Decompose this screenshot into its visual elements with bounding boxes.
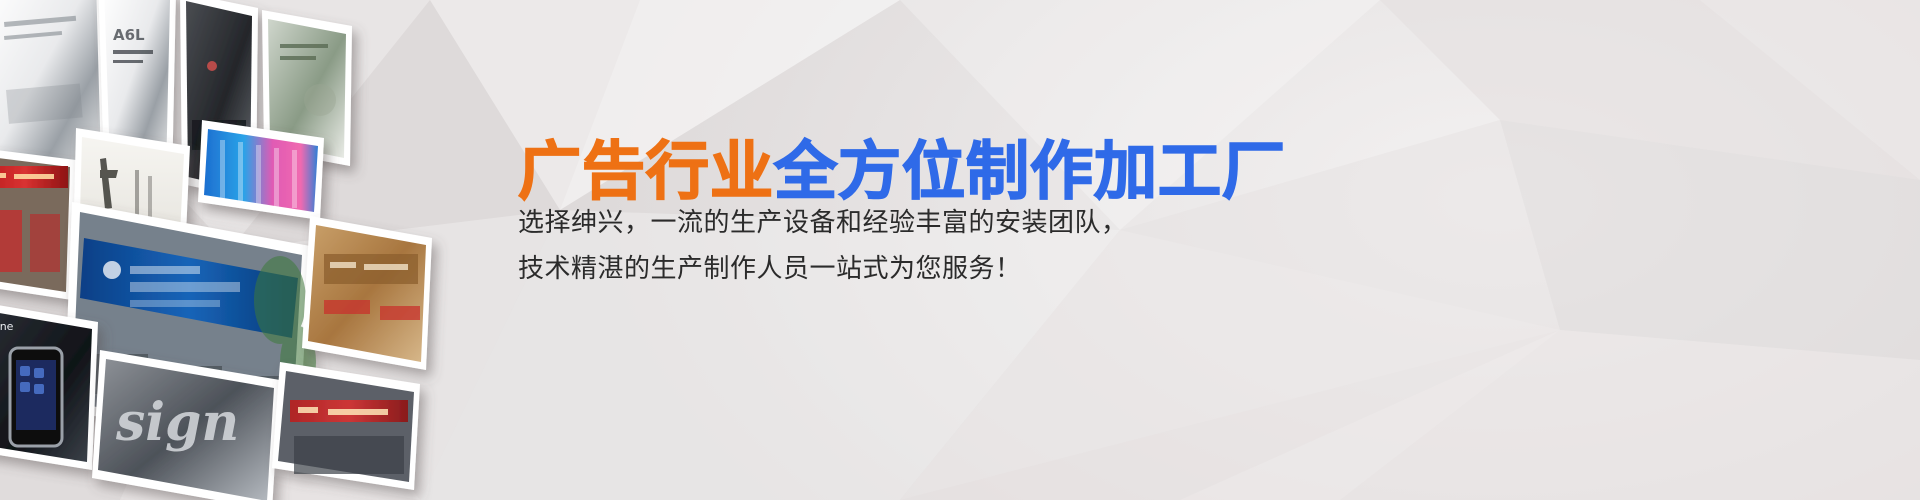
svg-text:A6L: A6L xyxy=(113,26,145,44)
banner-subtitle: 选择绅兴，一流的生产设备和经验丰富的安装团队， 技术精湛的生产制作人员一站式为您… xyxy=(518,200,1128,292)
photo-collage: A6L xyxy=(0,0,450,500)
subtitle-line-1: 选择绅兴，一流的生产设备和经验丰富的安装团队， xyxy=(518,200,1128,246)
svg-text:sign: sign xyxy=(115,392,239,453)
banner-headline: 广告行业全方位制作加工厂 xyxy=(518,138,1286,206)
collage-photo-red-awning-shopfront xyxy=(272,362,420,490)
headline-part-orange: 广告行业 xyxy=(518,135,774,208)
headline-part-blue: 全方位制作加工厂 xyxy=(774,135,1286,208)
collage-photo-storefront-sign-red xyxy=(0,148,76,300)
collage-photo-iphone-display-poster: hone xyxy=(0,302,98,470)
collage-photo-shop-facade-wood xyxy=(302,216,432,370)
collage-photos: A6L xyxy=(0,0,450,500)
svg-text:hone: hone xyxy=(0,320,14,333)
promo-banner: A6L xyxy=(0,0,1920,500)
subtitle-line-2: 技术精湛的生产制作人员一站式为您服务！ xyxy=(518,246,1128,292)
